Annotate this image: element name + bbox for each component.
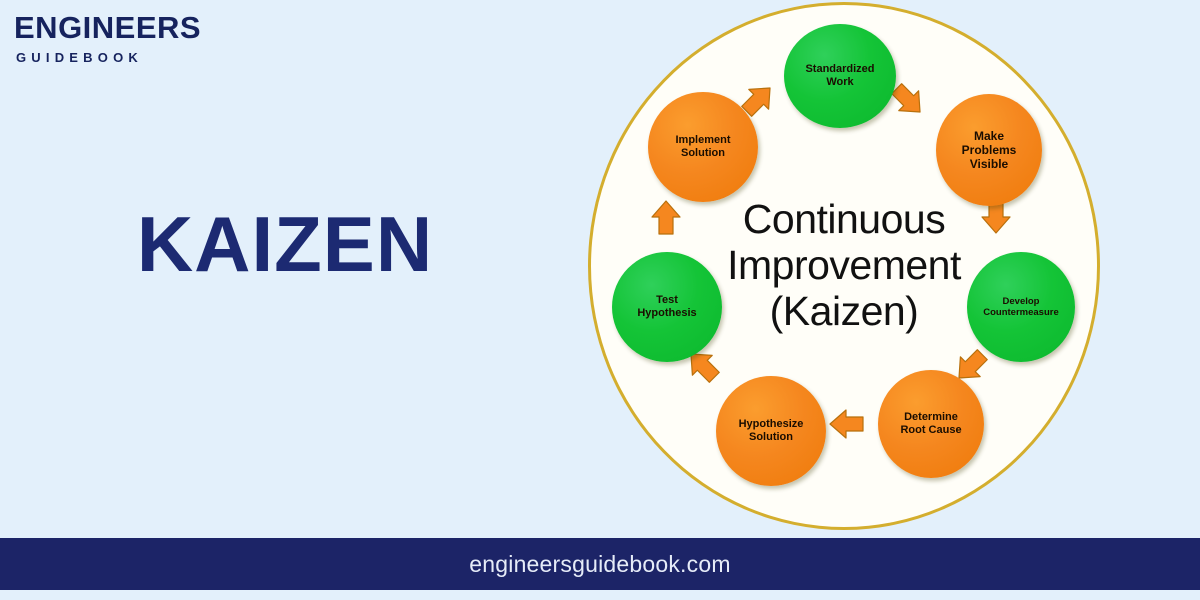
center-line-3: (Kaizen) [679,289,1009,335]
node-label-group: Hypothesize Solution [733,418,810,444]
node-test-hypothesis[interactable]: Test Hypothesis [612,252,722,362]
node-label-line: Countermeasure [977,307,1065,318]
site-logo[interactable]: ENGINEERS GUIDEBOOK [14,12,274,65]
node-implement-solution[interactable]: Implement Solution [648,92,758,202]
node-label-line: Root Cause [894,424,967,437]
footer-website-url[interactable]: engineersguidebook.com [469,551,730,578]
node-label-line: Determine [894,411,967,424]
node-develop-countermeasure[interactable]: Develop Countermeasure [967,252,1075,362]
node-label-group: Determine Root Cause [894,411,967,437]
node-make-problems-visible[interactable]: Make Problems Visible [936,94,1042,206]
node-label-line: Test [631,294,702,307]
arrow-test-to-implement-icon [646,198,686,238]
footer-bar: engineersguidebook.com [0,538,1200,590]
node-label-group: Standardized Work [799,63,880,89]
page-title: KAIZEN [0,205,570,283]
logo-brand-name: ENGINEERS [14,12,274,45]
center-line-1: Continuous [679,197,1009,243]
kaizen-cycle-diagram: Continuous Improvement (Kaizen) [588,2,1100,530]
node-label-line: Work [799,76,880,89]
arrow-determine-to-hypothesize-icon [827,404,867,444]
node-label-group: Implement Solution [669,134,736,160]
node-label-line: Develop [977,296,1065,307]
node-label-line: Hypothesize [733,418,810,431]
node-label-group: Develop Countermeasure [977,296,1065,318]
center-line-2: Improvement [679,243,1009,289]
logo-brand-tagline: GUIDEBOOK [16,50,274,65]
node-label-line: Visible [956,157,1023,171]
diagram-center-label: Continuous Improvement (Kaizen) [679,197,1009,335]
node-label-line: Make [956,129,1023,143]
node-label-line: Solution [669,147,736,160]
node-label-group: Test Hypothesis [631,294,702,320]
node-label-group: Make Problems Visible [956,129,1023,171]
node-determine-root-cause[interactable]: Determine Root Cause [878,370,984,478]
node-standardized-work[interactable]: Standardized Work [784,24,896,128]
node-label-line: Hypothesis [631,307,702,320]
node-label-line: Standardized [799,63,880,76]
node-label-line: Solution [733,431,810,444]
node-label-line: Implement [669,134,736,147]
node-label-line: Problems [956,143,1023,157]
node-hypothesize-solution[interactable]: Hypothesize Solution [716,376,826,486]
